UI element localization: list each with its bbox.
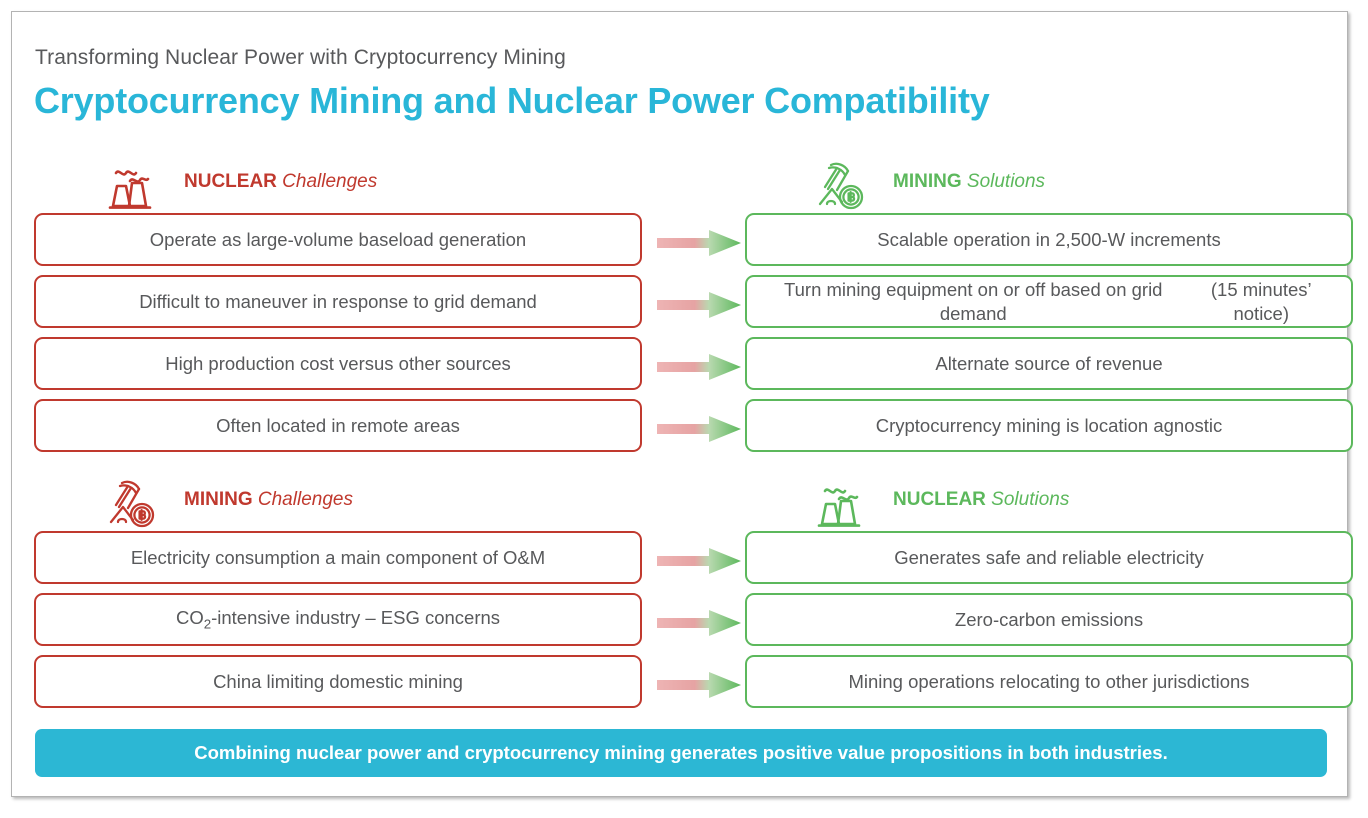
section-title-strong: MINING <box>184 489 253 510</box>
challenge-to-solution-arrow <box>653 414 745 444</box>
slide-kicker: Transforming Nuclear Power with Cryptocu… <box>35 46 566 70</box>
section-header: MINING Solutions <box>745 157 1353 213</box>
section-title: MINING Solutions <box>893 171 1293 193</box>
section-nuclear-challenges: NUCLEAR Challenges Operate as large-volu… <box>34 157 642 213</box>
section-title-soft: Challenges <box>282 171 377 192</box>
list-item[interactable]: High production cost versus other source… <box>34 337 642 390</box>
list-item[interactable]: CO2-intensive industry – ESG concerns <box>34 593 642 646</box>
slide-frame: Transforming Nuclear Power with Cryptocu… <box>11 11 1348 797</box>
section-header: NUCLEAR Solutions <box>745 475 1353 531</box>
section-title-soft: Solutions <box>991 489 1069 510</box>
list-item[interactable]: Operate as large-volume baseload generat… <box>34 213 642 266</box>
list-item-text: CO2-intensive industry – ESG concerns <box>176 606 500 633</box>
section-header: MINING Challenges <box>34 475 642 531</box>
list-item[interactable]: China limiting domestic mining <box>34 655 642 708</box>
section-title-strong: MINING <box>893 171 962 192</box>
list-item[interactable]: Electricity consumption a main component… <box>34 531 642 584</box>
list-item-line2: (15 minutes’ notice) <box>1186 278 1337 325</box>
list-item-line1: Turn mining equipment on or off based on… <box>761 278 1186 325</box>
section-title-strong: NUCLEAR <box>184 171 277 192</box>
challenge-to-solution-arrow <box>653 546 745 576</box>
section-nuclear-solutions: NUCLEAR Solutions Generates safe and rel… <box>745 475 1353 531</box>
list-item[interactable]: Turn mining equipment on or off based on… <box>745 275 1353 328</box>
pickaxe-bitcoin-icon <box>815 159 869 211</box>
section-title: NUCLEAR Challenges <box>184 171 584 193</box>
list-item[interactable]: Scalable operation in 2,500-W increments <box>745 213 1353 266</box>
section-title: NUCLEAR Solutions <box>893 489 1293 511</box>
section-mining-challenges: MINING Challenges Electricity consumptio… <box>34 475 642 531</box>
challenge-to-solution-arrow <box>653 670 745 700</box>
challenge-to-solution-arrow <box>653 352 745 382</box>
list-item[interactable]: Mining operations relocating to other ju… <box>745 655 1353 708</box>
page-title: Cryptocurrency Mining and Nuclear Power … <box>34 80 990 122</box>
list-item[interactable]: Generates safe and reliable electricity <box>745 531 1353 584</box>
list-item[interactable]: Zero-carbon emissions <box>745 593 1353 646</box>
pickaxe-bitcoin-icon <box>106 477 160 529</box>
section-title-strong: NUCLEAR <box>893 489 986 510</box>
list-item[interactable]: Often located in remote areas <box>34 399 642 452</box>
summary-banner: Combining nuclear power and cryptocurren… <box>35 729 1327 777</box>
cooling-tower-icon <box>815 477 869 529</box>
list-item[interactable]: Cryptocurrency mining is location agnost… <box>745 399 1353 452</box>
challenge-to-solution-arrow <box>653 290 745 320</box>
challenge-to-solution-arrow <box>653 228 745 258</box>
section-title-soft: Challenges <box>258 489 353 510</box>
section-header: NUCLEAR Challenges <box>34 157 642 213</box>
section-mining-solutions: MINING Solutions Scalable operation in 2… <box>745 157 1353 213</box>
list-item[interactable]: Difficult to maneuver in response to gri… <box>34 275 642 328</box>
cooling-tower-icon <box>106 159 160 211</box>
section-title: MINING Challenges <box>184 489 584 511</box>
list-item[interactable]: Alternate source of revenue <box>745 337 1353 390</box>
challenge-to-solution-arrow <box>653 608 745 638</box>
section-title-soft: Solutions <box>967 171 1045 192</box>
